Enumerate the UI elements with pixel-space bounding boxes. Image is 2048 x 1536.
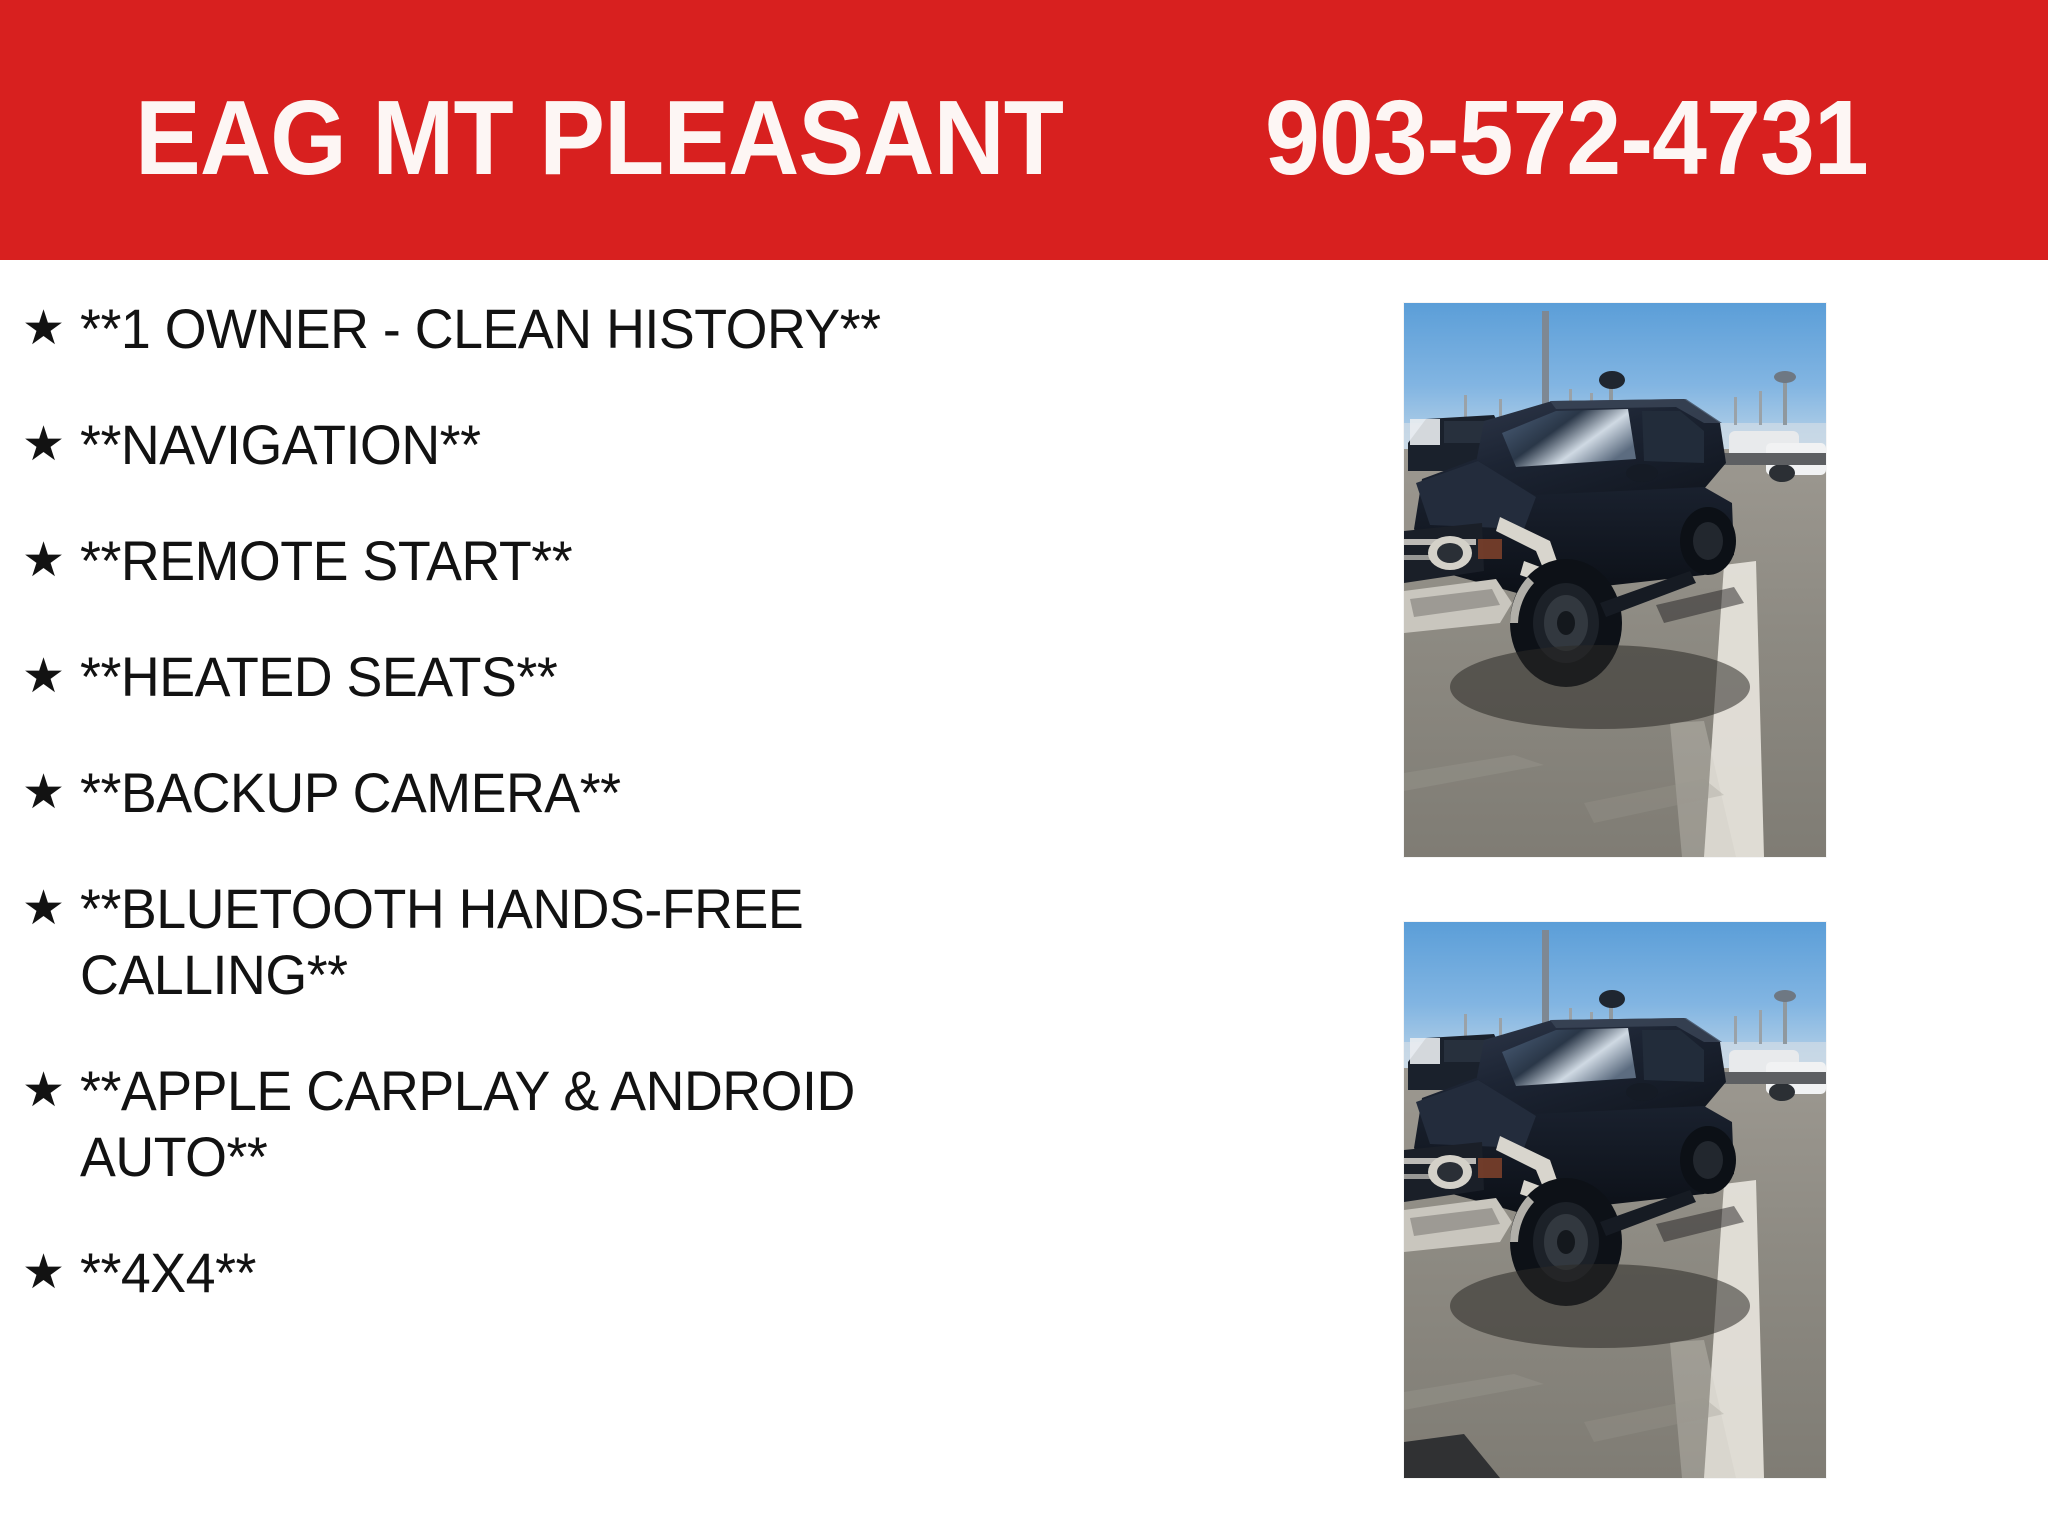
feature-label: **REMOTE START** [80, 528, 886, 594]
list-item: ★ **BLUETOOTH HANDS-FREE CALLING** [22, 876, 1330, 1008]
star-icon: ★ [22, 296, 80, 362]
feature-label: **BLUETOOTH HANDS-FREE CALLING** [80, 876, 886, 1008]
vehicle-photo-1-image [1404, 303, 1826, 857]
vehicle-photo-1[interactable] [1404, 303, 1826, 857]
dealer-header-banner: EAG MT PLEASANT 903-572-4731 [0, 0, 2048, 260]
list-item: ★ **APPLE CARPLAY & ANDROID AUTO** [22, 1058, 1330, 1190]
dealer-name: EAG MT PLEASANT [135, 85, 1063, 191]
feature-label: **BACKUP CAMERA** [80, 760, 886, 826]
feature-label: **APPLE CARPLAY & ANDROID AUTO** [80, 1058, 886, 1190]
feature-label: **NAVIGATION** [80, 412, 886, 478]
feature-label: **1 OWNER - CLEAN HISTORY** [80, 296, 886, 362]
list-item: ★ **REMOTE START** [22, 528, 1330, 594]
vehicle-feature-list: ★ **1 OWNER - CLEAN HISTORY** ★ **NAVIGA… [0, 260, 1330, 1306]
feature-label: **4X4** [80, 1240, 886, 1306]
list-item: ★ **NAVIGATION** [22, 412, 1330, 478]
vehicle-photo-2-image [1404, 922, 1826, 1478]
feature-label: **HEATED SEATS** [80, 644, 886, 710]
star-icon: ★ [22, 760, 80, 826]
star-icon: ★ [22, 1240, 80, 1306]
star-icon: ★ [22, 528, 80, 594]
star-icon: ★ [22, 1058, 80, 1124]
list-item: ★ **HEATED SEATS** [22, 644, 1330, 710]
list-item: ★ **1 OWNER - CLEAN HISTORY** [22, 296, 1330, 362]
list-item: ★ **BACKUP CAMERA** [22, 760, 1330, 826]
vehicle-photo-2[interactable] [1404, 922, 1826, 1478]
star-icon: ★ [22, 412, 80, 478]
header-text-group: EAG MT PLEASANT 903-572-4731 [135, 85, 1913, 191]
dealer-phone-number[interactable]: 903-572-4731 [1265, 85, 1868, 191]
star-icon: ★ [22, 644, 80, 710]
flyer-page: EAG MT PLEASANT 903-572-4731 ★ **1 OWNER… [0, 0, 2048, 1536]
star-icon: ★ [22, 876, 80, 942]
list-item: ★ **4X4** [22, 1240, 1330, 1306]
